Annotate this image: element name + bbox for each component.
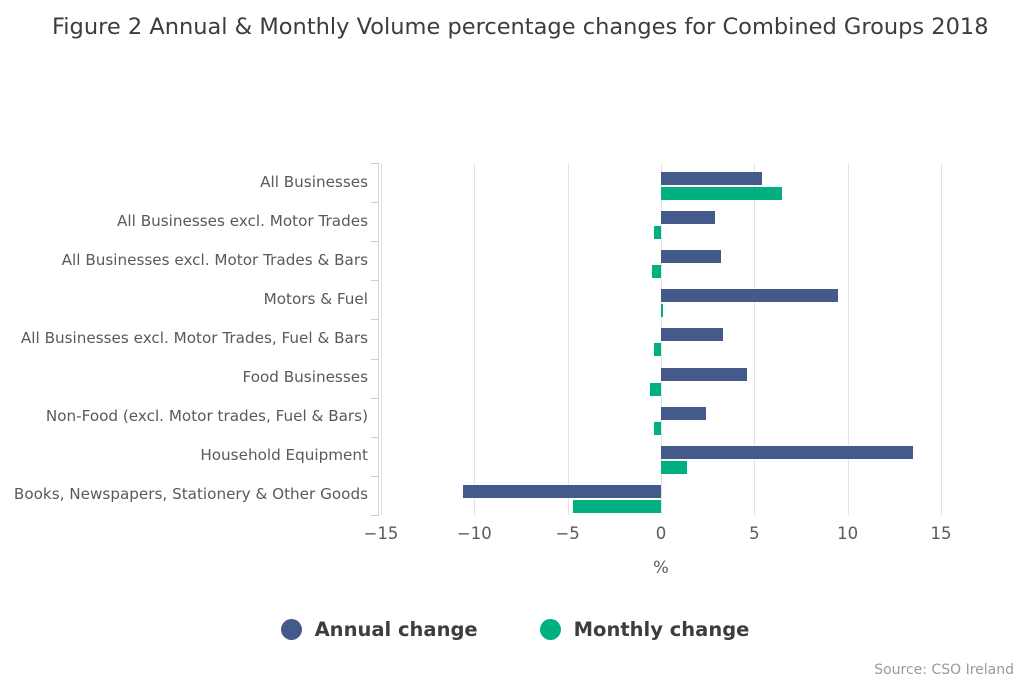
chart-legend: Annual change Monthly change — [0, 618, 1030, 641]
category-label-5: Food Businesses — [0, 368, 368, 388]
x-tick-label--5: −5 — [528, 524, 608, 543]
category-tickmark-0 — [371, 163, 379, 164]
category-label-0: All Businesses — [0, 173, 368, 193]
bar-annual-0[interactable] — [661, 172, 762, 185]
category-label-2: All Businesses excl. Motor Trades & Bars — [0, 251, 368, 271]
gridline--10 — [474, 163, 475, 515]
gridline-5 — [754, 163, 755, 515]
legend-item-annual[interactable]: Annual change — [281, 618, 478, 641]
x-tick-label-15: 15 — [901, 524, 981, 543]
chart-container: Figure 2 Annual & Monthly Volume percent… — [0, 0, 1030, 687]
legend-item-monthly[interactable]: Monthly change — [540, 618, 750, 641]
bar-monthly-5[interactable] — [650, 383, 661, 396]
gridline--15 — [381, 163, 382, 515]
legend-label-monthly: Monthly change — [574, 618, 750, 641]
category-label-8: Books, Newspapers, Stationery & Other Go… — [0, 485, 368, 505]
bar-monthly-4[interactable] — [654, 343, 661, 356]
legend-label-annual: Annual change — [315, 618, 478, 641]
x-tick-label--15: −15 — [341, 524, 421, 543]
x-tick-label-10: 10 — [808, 524, 888, 543]
bar-monthly-3[interactable] — [661, 304, 663, 317]
bar-annual-3[interactable] — [661, 289, 838, 302]
category-tickmark-7 — [371, 437, 379, 438]
bar-annual-1[interactable] — [661, 211, 715, 224]
bar-annual-8[interactable] — [463, 485, 661, 498]
bar-annual-6[interactable] — [661, 407, 706, 420]
category-tickmark-2 — [371, 241, 379, 242]
gridline-10 — [848, 163, 849, 515]
category-tickmark-4 — [371, 319, 379, 320]
category-label-7: Household Equipment — [0, 446, 368, 466]
category-tickmark-8 — [371, 476, 379, 477]
source-note: Source: CSO Ireland — [874, 662, 1014, 678]
legend-swatch-annual-icon — [281, 619, 302, 640]
gridline--5 — [568, 163, 569, 515]
bar-annual-7[interactable] — [661, 446, 913, 459]
x-axis-title: % — [621, 558, 701, 577]
bar-annual-2[interactable] — [661, 250, 721, 263]
bar-monthly-7[interactable] — [661, 461, 687, 474]
category-label-4: All Businesses excl. Motor Trades, Fuel … — [0, 329, 368, 349]
gridline-15 — [941, 163, 942, 515]
category-tickmark-6 — [371, 398, 379, 399]
x-tick-label-0: 0 — [621, 524, 701, 543]
category-label-6: Non-Food (excl. Motor trades, Fuel & Bar… — [0, 407, 368, 427]
x-tick-label--10: −10 — [434, 524, 514, 543]
category-axis-labels: All BusinessesAll Businesses excl. Motor… — [0, 163, 368, 515]
x-tick-label-5: 5 — [714, 524, 794, 543]
category-label-1: All Businesses excl. Motor Trades — [0, 212, 368, 232]
category-tickmark-1 — [371, 202, 379, 203]
bar-monthly-2[interactable] — [652, 265, 661, 278]
category-tickmark-5 — [371, 359, 379, 360]
chart-title: Figure 2 Annual & Monthly Volume percent… — [8, 12, 1008, 43]
bar-monthly-8[interactable] — [573, 500, 661, 513]
legend-swatch-monthly-icon — [540, 619, 561, 640]
category-tickmark-9 — [371, 515, 379, 516]
plot-area — [381, 163, 941, 515]
y-axis-spine — [378, 163, 379, 515]
category-tickmark-3 — [371, 280, 379, 281]
bar-monthly-6[interactable] — [654, 422, 661, 435]
category-label-3: Motors & Fuel — [0, 290, 368, 310]
bar-monthly-1[interactable] — [654, 226, 661, 239]
bar-annual-4[interactable] — [661, 328, 723, 341]
bar-monthly-0[interactable] — [661, 187, 782, 200]
bar-annual-5[interactable] — [661, 368, 747, 381]
